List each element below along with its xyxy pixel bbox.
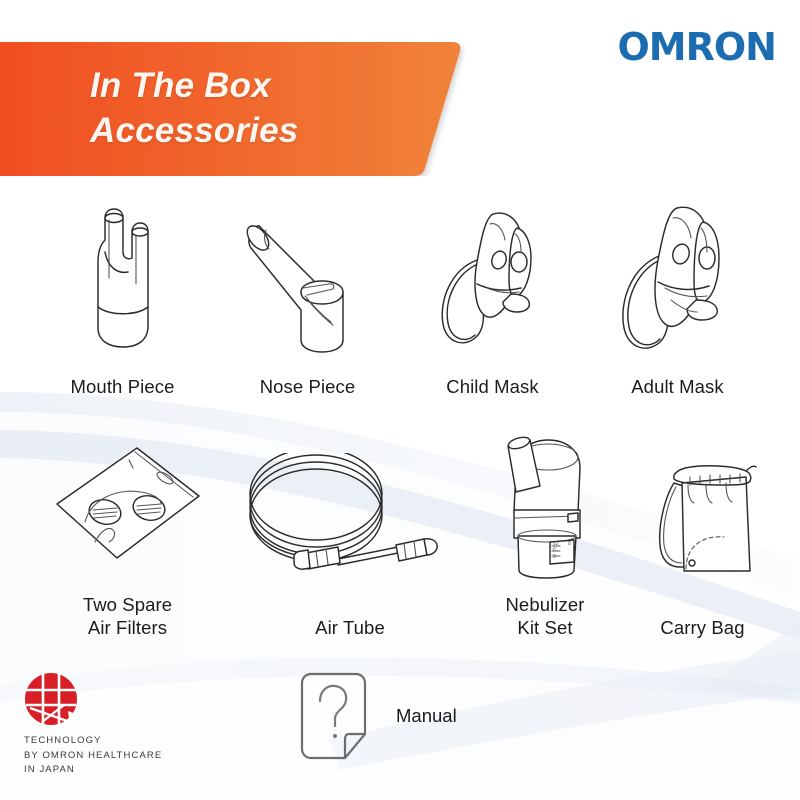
accessory-item-nose-piece: Nose Piece [215, 200, 400, 399]
accessories-row-1: Mouth Piece Nose Piece [30, 200, 770, 399]
adult-mask-illustration [615, 200, 740, 360]
manual-label: Manual [396, 705, 457, 727]
accessory-label: Two Spare Air Filters [83, 594, 172, 639]
nebulizer-kit-illustration: 12 6 2 8 [490, 430, 600, 580]
omron-red-globe-icon [24, 672, 162, 726]
title-banner: In The Box Accessories [0, 42, 470, 176]
accessory-item-adult-mask: Adult Mask [585, 200, 770, 399]
accessory-label: Child Mask [446, 376, 539, 399]
mouth-piece-illustration [68, 200, 178, 360]
air-filters-illustration [43, 430, 213, 580]
accessory-label: Mouth Piece [71, 376, 175, 399]
accessory-label: Nebulizer Kit Set [505, 594, 584, 639]
title-line-2: Accessories [90, 109, 470, 154]
manual-block: Manual [296, 668, 457, 764]
technology-badge: TECHNOLOGY BY OMRON HEALTHCARE IN JAPAN [24, 672, 162, 778]
accessory-item-mouth-piece: Mouth Piece [30, 200, 215, 399]
accessory-item-carry-bag: Carry Bag [625, 430, 780, 639]
infographic-page: In The Box Accessories OMRON Mouth Piec [0, 0, 800, 800]
nose-piece-illustration [243, 200, 373, 360]
accessory-item-air-tube: Air Tube [235, 430, 465, 639]
omron-logo: OMRON [618, 28, 777, 66]
title-line-1: In The Box [90, 64, 470, 109]
air-tube-illustration [238, 453, 463, 603]
accessory-label: Adult Mask [631, 376, 724, 399]
technology-badge-text: TECHNOLOGY BY OMRON HEALTHCARE IN JAPAN [24, 734, 162, 778]
svg-text:6: 6 [553, 547, 556, 553]
svg-text:8: 8 [568, 541, 571, 547]
page-header: In The Box Accessories OMRON [0, 0, 800, 200]
accessory-item-air-filters: Two Spare Air Filters [20, 430, 235, 639]
child-mask-illustration [433, 200, 553, 360]
banner-title: In The Box Accessories [0, 42, 470, 176]
document-question-icon [296, 668, 374, 764]
svg-text:2: 2 [553, 554, 556, 560]
accessory-item-child-mask: Child Mask [400, 200, 585, 399]
accessories-row-2: Two Spare Air Filters [20, 430, 780, 639]
accessory-label: Air Tube [315, 617, 385, 640]
carry-bag-illustration [640, 453, 765, 603]
accessory-label: Nose Piece [260, 376, 356, 399]
accessory-label: Carry Bag [660, 617, 744, 640]
accessory-item-nebulizer-kit: 12 6 2 8 Nebulizer Kit Set [465, 430, 625, 639]
